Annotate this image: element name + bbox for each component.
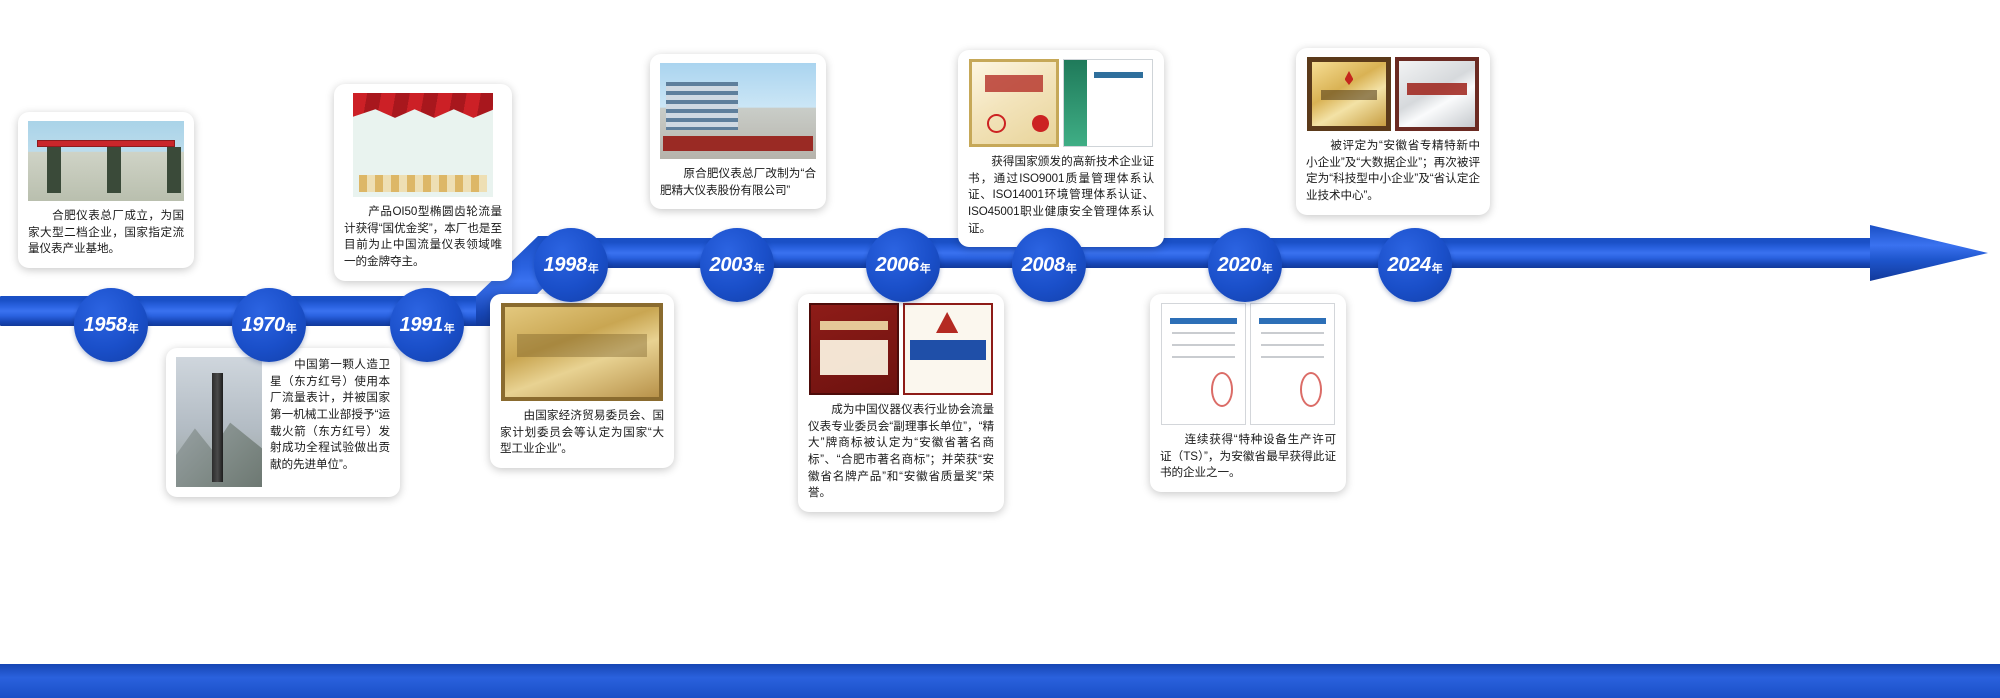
nda-management-system-certificate — [1063, 59, 1153, 147]
year-label-2020: 2020 — [1218, 254, 1261, 277]
milestone-images-1958 — [28, 121, 184, 201]
milestone-card-2024[interactable]: 被评定为“安徽省专精特新中小企业”及“大数据企业”；再次被评定为“科技型中小企业… — [1296, 48, 1490, 215]
year-marker-2024[interactable]: 2024 年 — [1378, 228, 1452, 302]
milestone-images-1991 — [344, 93, 502, 197]
year-suffix-1998: 年 — [588, 260, 599, 276]
milestone-images-2024 — [1306, 57, 1480, 131]
red-banner-certificate — [353, 93, 493, 197]
year-label-1958: 1958 — [84, 314, 127, 337]
year-label-2024: 2024 — [1388, 254, 1431, 277]
milestone-caption-1991: 产品OI50型椭圆齿轮流量计获得“国优金奖”，本厂也是至目前为止中国流量仪表领域… — [344, 204, 502, 271]
milestone-images-2006 — [808, 303, 994, 395]
rocket-launch-photo — [176, 357, 262, 487]
year-marker-1958[interactable]: 1958 年 — [74, 288, 148, 362]
year-marker-1998[interactable]: 1998 年 — [534, 228, 608, 302]
year-marker-2006[interactable]: 2006 年 — [866, 228, 940, 302]
year-suffix-1958: 年 — [128, 320, 139, 336]
milestone-card-1991[interactable]: 产品OI50型椭圆齿轮流量计获得“国优金奖”，本厂也是至目前为止中国流量仪表领域… — [334, 84, 512, 281]
year-suffix-1991: 年 — [444, 320, 455, 336]
footer-band — [0, 664, 2000, 698]
milestone-card-2008[interactable]: 获得国家颁发的高新技术企业证书，通过ISO9001质量管理体系认证、ISO140… — [958, 50, 1164, 247]
year-marker-2008[interactable]: 2008 年 — [1012, 228, 1086, 302]
year-label-2003: 2003 — [710, 254, 753, 277]
milestone-images-2020 — [1160, 303, 1336, 425]
year-label-1998: 1998 — [544, 254, 587, 277]
milestone-caption-2008: 获得国家颁发的高新技术企业证书，通过ISO9001质量管理体系认证、ISO140… — [968, 154, 1154, 237]
milestone-caption-1970: 中国第一颗人造卫星（东方红号）使用本厂流量表计，并被国家第一机械工业部授予“运载… — [270, 357, 390, 474]
milestone-card-1958[interactable]: 合肥仪表总厂成立，为国家大型二档企业，国家指定流量仪表产业基地。 — [18, 112, 194, 268]
high-tech-enterprise-certificate — [969, 59, 1059, 147]
milestone-card-1970[interactable]: 中国第一颗人造卫星（东方红号）使用本厂流量表计，并被国家第一机械工业部授予“运载… — [166, 348, 400, 497]
milestone-caption-1998: 由国家经济贸易委员会、国家计划委员会等认定为国家“大型工业企业”。 — [500, 408, 664, 458]
year-label-2006: 2006 — [876, 254, 919, 277]
year-suffix-2020: 年 — [1262, 260, 1273, 276]
sci-tech-sme-gold-plaque — [1307, 57, 1391, 131]
milestone-caption-2024: 被评定为“安徽省专精特新中小企业”及“大数据企业”；再次被评定为“科技型中小企业… — [1306, 138, 1480, 205]
anhui-specialized-new-silver-plaque — [1395, 57, 1479, 131]
timeline-infographic: 1958 年 1970 年 1991 年 1998 年 2003 年 2006 … — [0, 0, 2000, 698]
year-suffix-2024: 年 — [1432, 260, 1443, 276]
milestone-caption-2006: 成为中国仪器仪表行业协会流量仪表专业委员会“副理事长单位”，“精大”牌商标被认定… — [808, 402, 994, 502]
year-label-2008: 2008 — [1022, 254, 1065, 277]
factory-gate-photo — [28, 121, 184, 201]
milestone-card-1998[interactable]: 由国家经济贸易委员会、国家计划委员会等认定为国家“大型工业企业”。 — [490, 294, 674, 468]
year-suffix-2003: 年 — [754, 260, 765, 276]
anhui-famous-trademark-plaque — [903, 303, 993, 395]
year-marker-2020[interactable]: 2020 年 — [1208, 228, 1282, 302]
company-building-photo — [660, 63, 816, 159]
milestone-caption-1958: 合肥仪表总厂成立，为国家大型二档企业，国家指定流量仪表产业基地。 — [28, 208, 184, 258]
year-suffix-1970: 年 — [286, 320, 297, 336]
milestone-caption-2020: 连续获得“特种设备生产许可证（TS）”，为安徽省最早获得此证书的企业之一。 — [1160, 432, 1336, 482]
honor-certificate-darkred — [809, 303, 899, 395]
year-suffix-2006: 年 — [920, 260, 931, 276]
special-equipment-license-right — [1250, 303, 1335, 425]
timeline-arrow-icon — [1870, 211, 1988, 295]
milestone-card-2006[interactable]: 成为中国仪器仪表行业协会流量仪表专业委员会“副理事长单位”，“精大”牌商标被认定… — [798, 294, 1004, 512]
year-suffix-2008: 年 — [1066, 260, 1077, 276]
milestone-images-2003 — [660, 63, 816, 159]
year-label-1991: 1991 — [400, 314, 443, 337]
year-label-1970: 1970 — [242, 314, 285, 337]
milestone-card-2003[interactable]: 原合肥仪表总厂改制为“合肥精大仪表股份有限公司” — [650, 54, 826, 209]
year-marker-2003[interactable]: 2003 年 — [700, 228, 774, 302]
year-marker-1991[interactable]: 1991 年 — [390, 288, 464, 362]
milestone-images-2008 — [968, 59, 1154, 147]
milestone-images-1998 — [500, 303, 664, 401]
year-marker-1970[interactable]: 1970 年 — [232, 288, 306, 362]
large-industrial-enterprise-plaque — [501, 303, 663, 401]
milestone-card-2020[interactable]: 连续获得“特种设备生产许可证（TS）”，为安徽省最早获得此证书的企业之一。 — [1150, 294, 1346, 492]
special-equipment-license-left — [1161, 303, 1246, 425]
milestone-caption-2003: 原合肥仪表总厂改制为“合肥精大仪表股份有限公司” — [660, 166, 816, 199]
